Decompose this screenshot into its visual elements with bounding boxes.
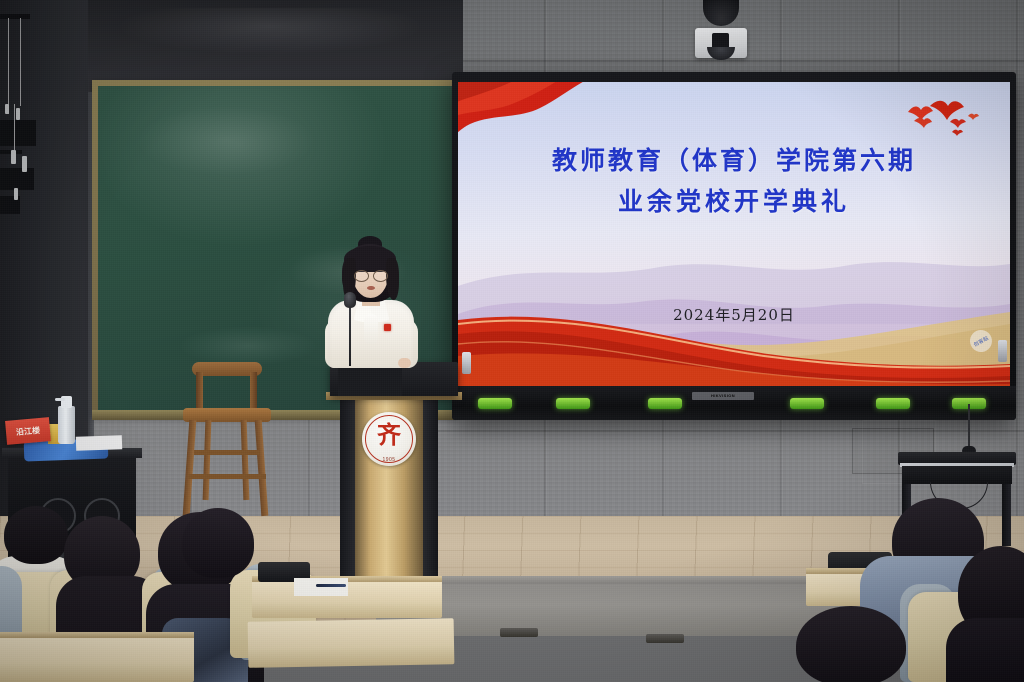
display-side-button-left[interactable] <box>462 352 471 374</box>
stage-vent-1 <box>500 628 538 637</box>
eyeglasses-icon <box>354 270 388 280</box>
stool-rung-upper <box>194 450 260 455</box>
microphone-stem <box>349 300 351 366</box>
audience-shoulders-6 <box>946 618 1024 682</box>
lecture-hall-photo: 教师教育（体育）学院第六期 业余党校开学典礼 2024年5月20日 创客贴 HI… <box>0 0 1024 682</box>
audience-head-7 <box>796 606 906 682</box>
presenter-mouth <box>367 286 375 290</box>
display-side-button-right[interactable] <box>998 340 1007 362</box>
red-sign-text: 沿江楼 <box>16 424 41 437</box>
right-table-leg-right <box>1002 484 1011 546</box>
sanitizer-nozzle-icon <box>55 398 65 401</box>
microphone-icon <box>344 292 356 308</box>
university-emblem-icon: 齐 1905 <box>362 412 416 466</box>
white-paper <box>76 435 122 451</box>
slide-red-silk-wave <box>458 282 1010 386</box>
stool-leg-2 <box>255 420 269 516</box>
display-indicator-4 <box>790 398 824 409</box>
presenter-lower-body <box>338 366 402 396</box>
stool-leg-4 <box>241 420 250 500</box>
desk-3[interactable] <box>248 618 455 668</box>
stage-vent-2 <box>646 634 684 643</box>
emblem-year: 1905 <box>362 457 416 463</box>
presenter-bow-tie <box>364 314 378 344</box>
display-indicator-3 <box>648 398 682 409</box>
slide-title-line-1: 教师教育（体育）学院第六期 <box>458 140 1010 181</box>
slide-title-line-2: 业余党校开学典礼 <box>458 181 1010 222</box>
pen-1[interactable] <box>316 584 346 587</box>
presenter-hand <box>398 358 411 368</box>
presentation-screen[interactable]: 教师教育（体育）学院第六期 业余党校开学典礼 2024年5月20日 创客贴 <box>458 82 1010 386</box>
presenter-speaker <box>316 236 426 366</box>
wall-seam-upper <box>430 60 1024 62</box>
audience-head-1 <box>4 506 68 564</box>
slide-date: 2024年5月20日 <box>458 304 1010 325</box>
display-indicator-1 <box>478 398 512 409</box>
display-indicator-5 <box>876 398 910 409</box>
hand-sanitizer-bottle <box>58 406 75 444</box>
stool-leg-1 <box>183 420 197 516</box>
desk-1[interactable] <box>0 636 194 682</box>
red-sign: 沿江楼 <box>5 417 51 445</box>
display-indicator-2 <box>556 398 590 409</box>
display-brand-logo: HIKVISION <box>692 392 754 400</box>
eyeglass-lens-left <box>354 270 369 282</box>
stool-leg-3 <box>203 420 212 500</box>
slide-birds-icon <box>894 96 986 140</box>
header-light-reflection <box>120 8 420 54</box>
slide-title: 教师教育（体育）学院第六期 业余党校开学典礼 <box>458 140 1010 223</box>
stool-post-left <box>196 372 203 412</box>
right-table-cable <box>968 404 970 450</box>
stool-post-right <box>250 372 257 412</box>
audience-head-4 <box>182 508 254 578</box>
hanging-equipment-rig <box>0 0 52 240</box>
stool-rung-lower <box>188 474 266 479</box>
desk-1-edge <box>0 632 194 638</box>
paper-sheet-1[interactable] <box>294 578 348 596</box>
eyeglass-lens-right <box>373 270 388 282</box>
party-badge-icon <box>384 324 391 331</box>
wooden-stool[interactable] <box>178 362 274 522</box>
emblem-glyph: 齐 <box>362 423 416 447</box>
